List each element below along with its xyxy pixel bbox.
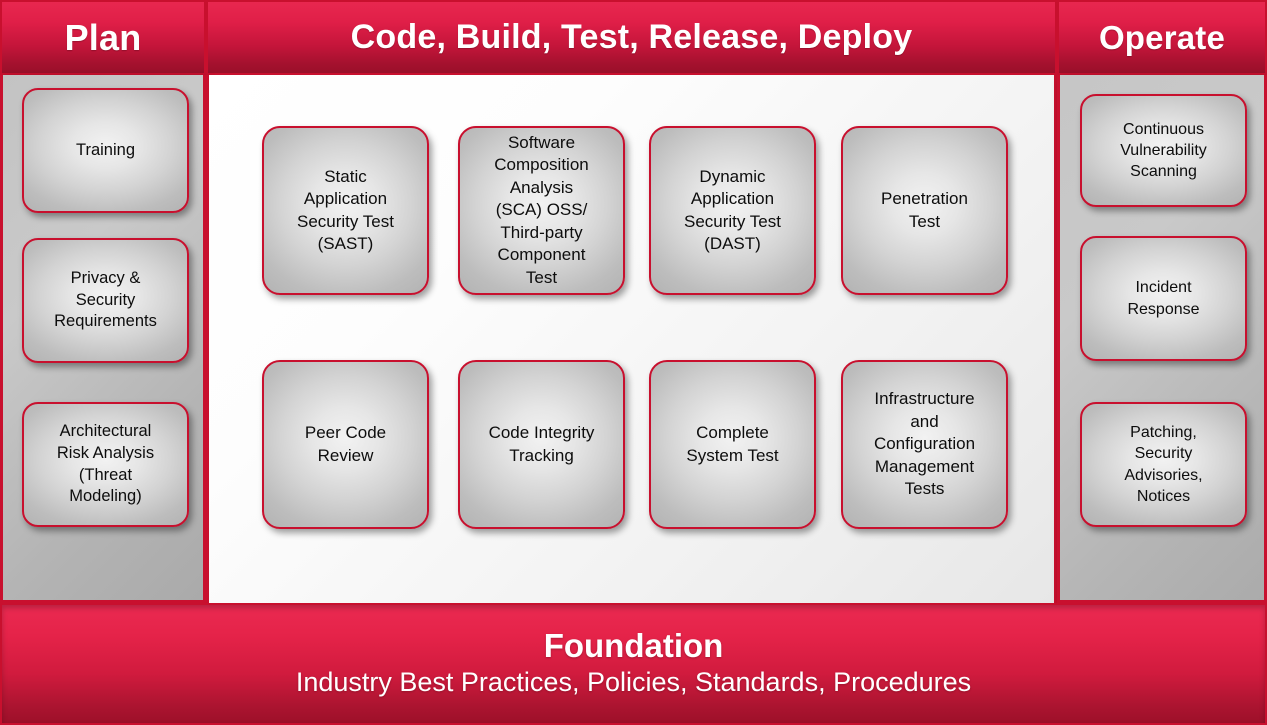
code-node-infrastructure-configuration-management-tests[interactable]: Infrastructure and Configuration Managem… — [841, 360, 1008, 529]
foundation-subtitle: Industry Best Practices, Policies, Stand… — [296, 666, 971, 700]
column-body-code-build-test-release-deploy: Static Application Security Test (SAST) … — [206, 75, 1057, 603]
column-header-operate: Operate — [1057, 0, 1267, 75]
code-node-dynamic-application-security-test[interactable]: Dynamic Application Security Test (DAST) — [649, 126, 816, 295]
code-node-static-application-security-test[interactable]: Static Application Security Test (SAST) — [262, 126, 429, 295]
foundation-bar: Foundation Industry Best Practices, Poli… — [0, 603, 1267, 725]
column-header-plan: Plan — [0, 0, 206, 75]
code-node-software-composition-analysis[interactable]: Software Composition Analysis (SCA) OSS/… — [458, 126, 625, 295]
devsecops-diagram: Plan Code, Build, Test, Release, Deploy … — [0, 0, 1267, 725]
plan-node-privacy-security-requirements[interactable]: Privacy & Security Requirements — [22, 238, 189, 363]
column-body-plan: Training Privacy & Security Requirements… — [0, 75, 206, 603]
operate-node-patching-security-advisories-notices[interactable]: Patching, Security Advisories, Notices — [1080, 402, 1247, 527]
operate-node-continuous-vulnerability-scanning[interactable]: Continuous Vulnerability Scanning — [1080, 94, 1247, 207]
operate-node-incident-response[interactable]: Incident Response — [1080, 236, 1247, 361]
plan-node-training[interactable]: Training — [22, 88, 189, 213]
column-body-operate: Continuous Vulnerability Scanning Incide… — [1057, 75, 1267, 603]
column-header-code-build-test-release-deploy: Code, Build, Test, Release, Deploy — [206, 0, 1057, 75]
code-node-code-integrity-tracking[interactable]: Code Integrity Tracking — [458, 360, 625, 529]
code-node-peer-code-review[interactable]: Peer Code Review — [262, 360, 429, 529]
code-node-penetration-test[interactable]: Penetration Test — [841, 126, 1008, 295]
plan-node-architectural-risk-analysis[interactable]: Architectural Risk Analysis (Threat Mode… — [22, 402, 189, 527]
foundation-title: Foundation — [544, 628, 724, 664]
code-node-complete-system-test[interactable]: Complete System Test — [649, 360, 816, 529]
